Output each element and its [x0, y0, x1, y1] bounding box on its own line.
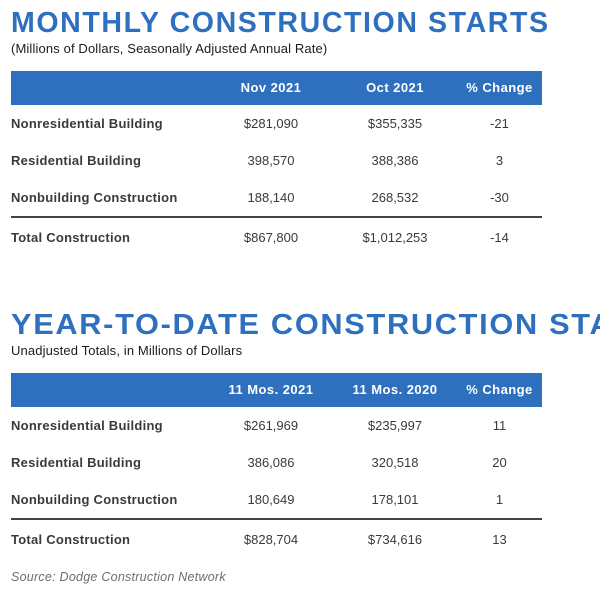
table-row: Residential Building 386,086 320,518 20 — [11, 444, 542, 481]
table-year-to-date-construction-starts: 11 Mos. 2021 11 Mos. 2020 % Change Nonre… — [11, 373, 542, 558]
row-label: Nonresidential Building — [11, 407, 209, 444]
table-row: Nonbuilding Construction 188,140 268,532… — [11, 179, 542, 217]
total-cell-11-mos-2021: $828,704 — [209, 519, 333, 558]
cell-11-mos-2020: $235,997 — [333, 407, 457, 444]
cell-oct-2021: 268,532 — [333, 179, 457, 217]
table-header-monthly: Nov 2021 Oct 2021 % Change — [11, 71, 542, 105]
table-total-row: Total Construction $867,800 $1,012,253 -… — [11, 217, 542, 256]
total-cell-pct-change: 13 — [457, 519, 542, 558]
source-note: Source: Dodge Construction Network — [11, 570, 226, 584]
table-row: Residential Building 398,570 388,386 3 — [11, 142, 542, 179]
cell-oct-2021: 388,386 — [333, 142, 457, 179]
cell-11-mos-2020: 320,518 — [333, 444, 457, 481]
cell-nov-2021: 188,140 — [209, 179, 333, 217]
cell-nov-2021: $281,090 — [209, 105, 333, 142]
table-body-year-to-date: Nonresidential Building $261,969 $235,99… — [11, 407, 542, 558]
total-cell-pct-change: -14 — [457, 217, 542, 256]
column-header-oct-2021: Oct 2021 — [333, 71, 457, 105]
column-header-pct-change: % Change — [457, 373, 542, 407]
column-header-category — [11, 373, 209, 407]
cell-pct-change: 3 — [457, 142, 542, 179]
table-row: Nonbuilding Construction 180,649 178,101… — [11, 481, 542, 519]
column-header-11-mos-2021: 11 Mos. 2021 — [209, 373, 333, 407]
table-body-monthly: Nonresidential Building $281,090 $355,33… — [11, 105, 542, 256]
cell-pct-change: -30 — [457, 179, 542, 217]
section-subtitle-monthly: (Millions of Dollars, Seasonally Adjuste… — [11, 41, 600, 57]
cell-11-mos-2020: 178,101 — [333, 481, 457, 519]
total-row-label: Total Construction — [11, 519, 209, 558]
cell-pct-change: 20 — [457, 444, 542, 481]
cell-11-mos-2021: $261,969 — [209, 407, 333, 444]
section-title-year-to-date: YEAR-TO-DATE CONSTRUCTION STARTS — [11, 310, 600, 341]
cell-pct-change: -21 — [457, 105, 542, 142]
total-cell-nov-2021: $867,800 — [209, 217, 333, 256]
cell-pct-change: 11 — [457, 407, 542, 444]
table-row: Nonresidential Building $281,090 $355,33… — [11, 105, 542, 142]
section-year-to-date-construction-starts: YEAR-TO-DATE CONSTRUCTION STARTS Unadjus… — [0, 310, 600, 558]
report-sheet: MONTHLY CONSTRUCTION STARTS (Millions of… — [0, 0, 600, 612]
row-label: Nonbuilding Construction — [11, 179, 209, 217]
row-label: Residential Building — [11, 142, 209, 179]
cell-11-mos-2021: 386,086 — [209, 444, 333, 481]
row-label: Nonresidential Building — [11, 105, 209, 142]
row-label: Nonbuilding Construction — [11, 481, 209, 519]
table-monthly-construction-starts: Nov 2021 Oct 2021 % Change Nonresidentia… — [11, 71, 542, 256]
section-subtitle-year-to-date: Unadjusted Totals, in Millions of Dollar… — [11, 343, 600, 359]
cell-nov-2021: 398,570 — [209, 142, 333, 179]
column-header-11-mos-2020: 11 Mos. 2020 — [333, 373, 457, 407]
cell-11-mos-2021: 180,649 — [209, 481, 333, 519]
section-monthly-construction-starts: MONTHLY CONSTRUCTION STARTS (Millions of… — [0, 8, 600, 256]
total-row-label: Total Construction — [11, 217, 209, 256]
column-header-nov-2021: Nov 2021 — [209, 71, 333, 105]
table-header-row: 11 Mos. 2021 11 Mos. 2020 % Change — [11, 373, 542, 407]
section-title-monthly: MONTHLY CONSTRUCTION STARTS — [11, 8, 591, 39]
row-label: Residential Building — [11, 444, 209, 481]
table-total-row: Total Construction $828,704 $734,616 13 — [11, 519, 542, 558]
table-header-row: Nov 2021 Oct 2021 % Change — [11, 71, 542, 105]
column-header-pct-change: % Change — [457, 71, 542, 105]
cell-pct-change: 1 — [457, 481, 542, 519]
column-header-category — [11, 71, 209, 105]
total-cell-oct-2021: $1,012,253 — [333, 217, 457, 256]
total-cell-11-mos-2020: $734,616 — [333, 519, 457, 558]
table-header-year-to-date: 11 Mos. 2021 11 Mos. 2020 % Change — [11, 373, 542, 407]
cell-oct-2021: $355,335 — [333, 105, 457, 142]
table-row: Nonresidential Building $261,969 $235,99… — [11, 407, 542, 444]
